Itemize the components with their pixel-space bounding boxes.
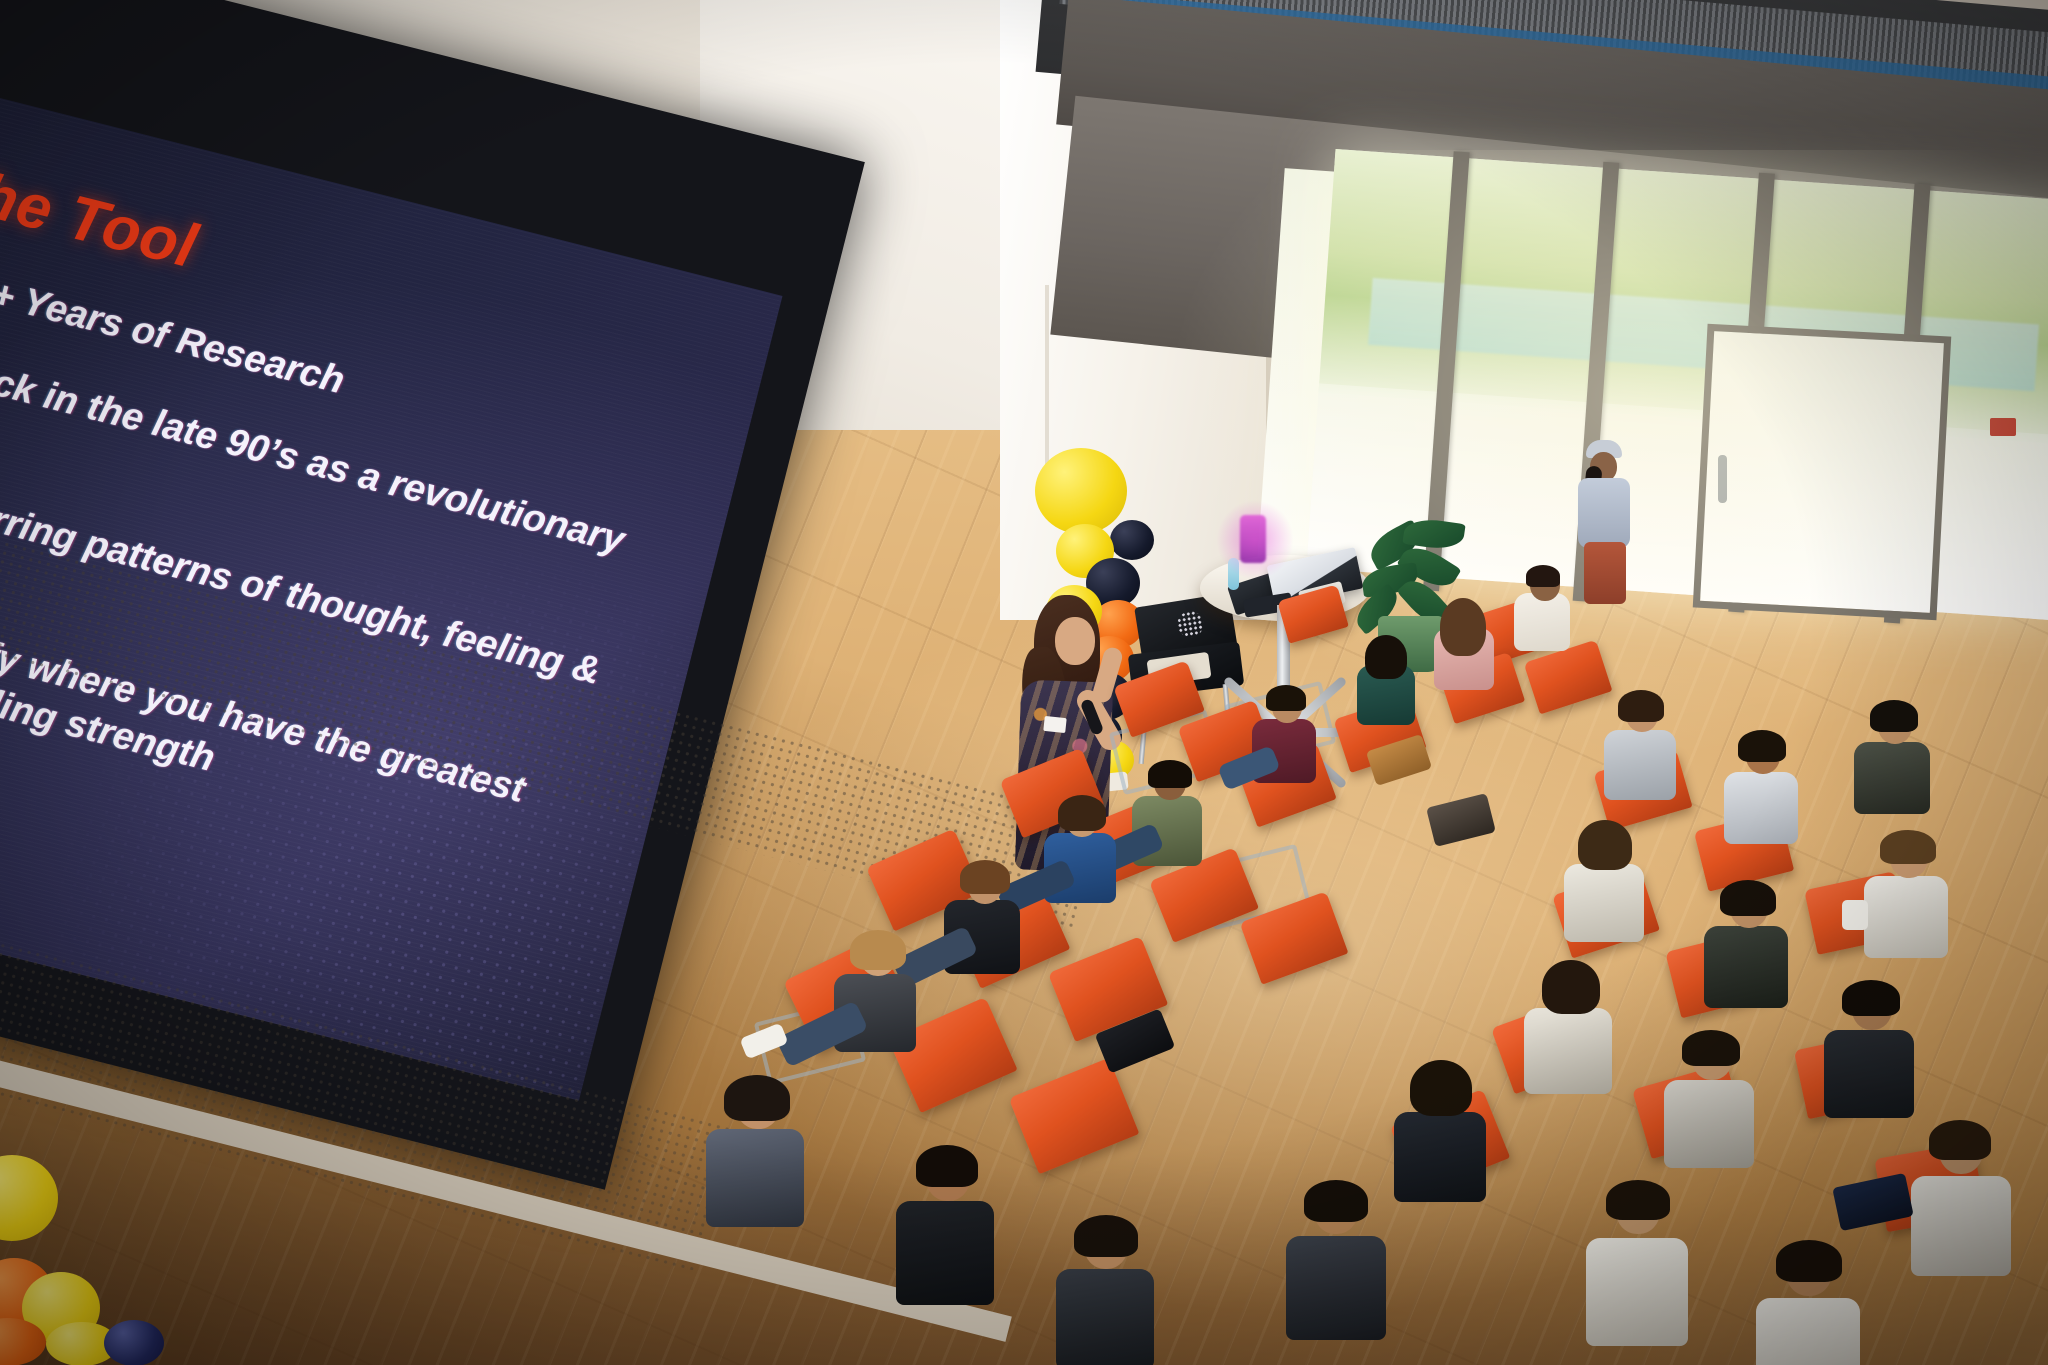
audience-hair [916,1145,978,1187]
audience-hair [1542,960,1600,1014]
audience-member [1580,1180,1692,1355]
audience-torso [896,1201,994,1305]
audience-hair [1578,820,1632,870]
standing-observer [1570,440,1640,605]
audience-member [1250,685,1320,785]
observer-denim-jacket [1578,478,1630,548]
audience-torso [1286,1236,1386,1340]
audience-hair [1304,1180,1368,1222]
audience-hair [1266,685,1306,711]
presenter-face [1055,617,1095,665]
audience-hair [1738,730,1786,762]
audience-member [1355,635,1417,727]
audience-member [1750,1240,1865,1365]
balloon-navy [104,1320,164,1365]
audience-hair [850,930,906,970]
audience-torso [1911,1176,2011,1276]
audience-torso [1704,926,1788,1008]
audience-member [1512,565,1572,655]
door-handle[interactable] [1718,455,1727,503]
audience-member [1905,1120,2015,1280]
audience-hair [1842,980,1900,1016]
audience-member [1860,830,1952,960]
audience-member [1390,1060,1490,1205]
audience-member [1660,1030,1758,1170]
audience-member [1432,598,1496,694]
audience-hair [724,1075,790,1121]
scene-root: About the Tool Based in 50+ Years of Res… [0,0,2048,1365]
audience-member [1520,960,1616,1098]
audience-hair [1058,795,1106,831]
audience-member [1040,795,1120,907]
audience-hair [1440,598,1486,656]
audience-torso [1524,1008,1612,1094]
glass-door[interactable] [1693,324,1952,620]
audience-torso [1864,876,1948,958]
audience-member [1128,760,1206,870]
audience-hair [1365,635,1407,679]
audience-hair [1720,880,1776,916]
audience-torso [1724,772,1798,844]
audience-hair [1776,1240,1842,1282]
audience-torso [1394,1112,1486,1202]
audience-member [1280,1180,1390,1350]
audience-torso [1664,1080,1754,1168]
audience-member [1050,1215,1160,1365]
audience-torso [1604,730,1676,800]
audience-hair [1618,690,1664,722]
audience-torso [1564,864,1644,942]
audience-hair [1929,1120,1991,1160]
audience-member [1850,700,1934,816]
audience-member [1600,690,1680,802]
audience-hair [1410,1060,1472,1116]
audience-hair [1870,700,1918,732]
audience-hair [1682,1030,1740,1066]
audience-torso [1514,593,1570,651]
exit-sign-icon [1990,418,2016,436]
audience-torso [706,1129,804,1227]
audience-torso [1586,1238,1688,1346]
audience-member [940,860,1024,978]
audience-member [1560,820,1648,944]
uva-data-science-sun-icon [1176,609,1206,639]
audience-member [890,1145,1000,1315]
audience-hair [1526,565,1560,587]
balloon-yellow [1035,448,1127,534]
audience-member [830,930,920,1056]
audience-member [1820,980,1918,1120]
coffee-cup [1842,900,1868,930]
audience-member [1720,730,1802,846]
audience-hair [1148,760,1192,788]
audience-hair [960,860,1010,894]
stage-uplight-glow [1216,500,1294,580]
wall-column-seam [1045,285,1049,470]
audience-member [700,1075,810,1235]
observer-pants [1584,542,1626,604]
audience-torso [1854,742,1930,814]
audience-torso [1056,1269,1154,1365]
audience-member [1700,880,1792,1010]
audience-hair [1074,1215,1138,1257]
audience-hair [1606,1180,1670,1220]
balloon-navy [1110,520,1154,560]
audience-torso [1756,1298,1860,1365]
audience-hair [1880,830,1936,864]
audience-torso [1824,1030,1914,1118]
presenter-name-badge [1043,716,1066,733]
